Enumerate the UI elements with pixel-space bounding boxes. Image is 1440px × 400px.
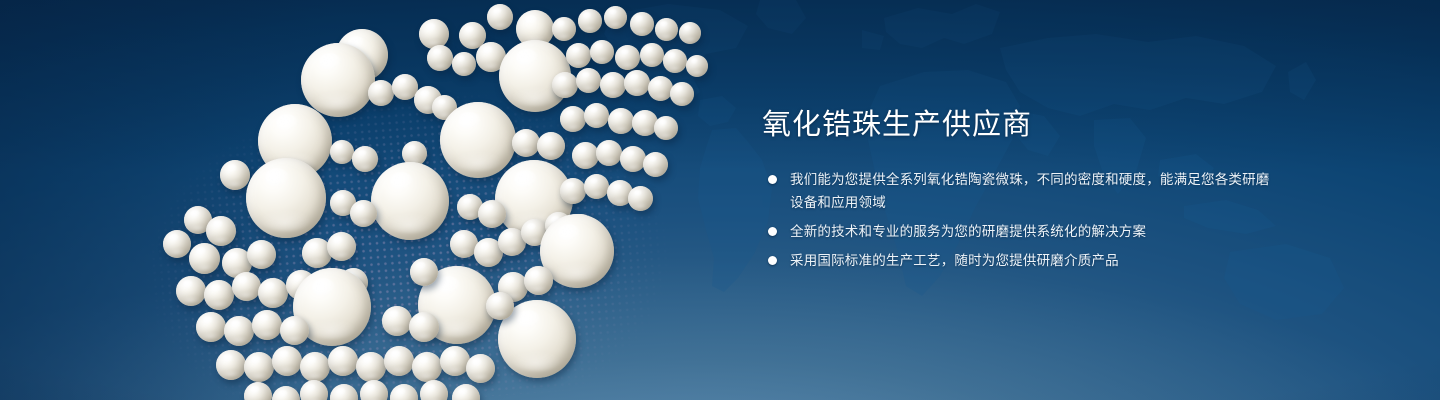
feature-list-item: 全新的技术和专业的服务为您的研磨提供系统化的解决方案 [762,220,1282,243]
page-title: 氧化锆珠生产供应商 [762,108,1282,142]
feature-list-item: 采用国际标准的生产工艺，随时为您提供研磨介质产品 [762,249,1282,272]
feature-list-item: 我们能为您提供全系列氧化锆陶瓷微珠，不同的密度和硬度，能满足您各类研磨设备和应用… [762,168,1282,214]
bullet-dot-icon [768,227,777,236]
hero-banner: 氧化锆珠生产供应商 我们能为您提供全系列氧化锆陶瓷微珠，不同的密度和硬度，能满足… [0,0,1440,400]
feature-list-item-label: 全新的技术和专业的服务为您的研磨提供系统化的解决方案 [790,224,1146,239]
feature-list: 我们能为您提供全系列氧化锆陶瓷微珠，不同的密度和硬度，能满足您各类研磨设备和应用… [762,168,1282,272]
bullet-dot-icon [768,175,777,184]
feature-list-item-label: 我们能为您提供全系列氧化锆陶瓷微珠，不同的密度和硬度，能满足您各类研磨设备和应用… [790,172,1270,210]
bullet-dot-icon [768,256,777,265]
banner-copy: 氧化锆珠生产供应商 我们能为您提供全系列氧化锆陶瓷微珠，不同的密度和硬度，能满足… [762,108,1282,278]
feature-list-item-label: 采用国际标准的生产工艺，随时为您提供研磨介质产品 [790,253,1119,268]
